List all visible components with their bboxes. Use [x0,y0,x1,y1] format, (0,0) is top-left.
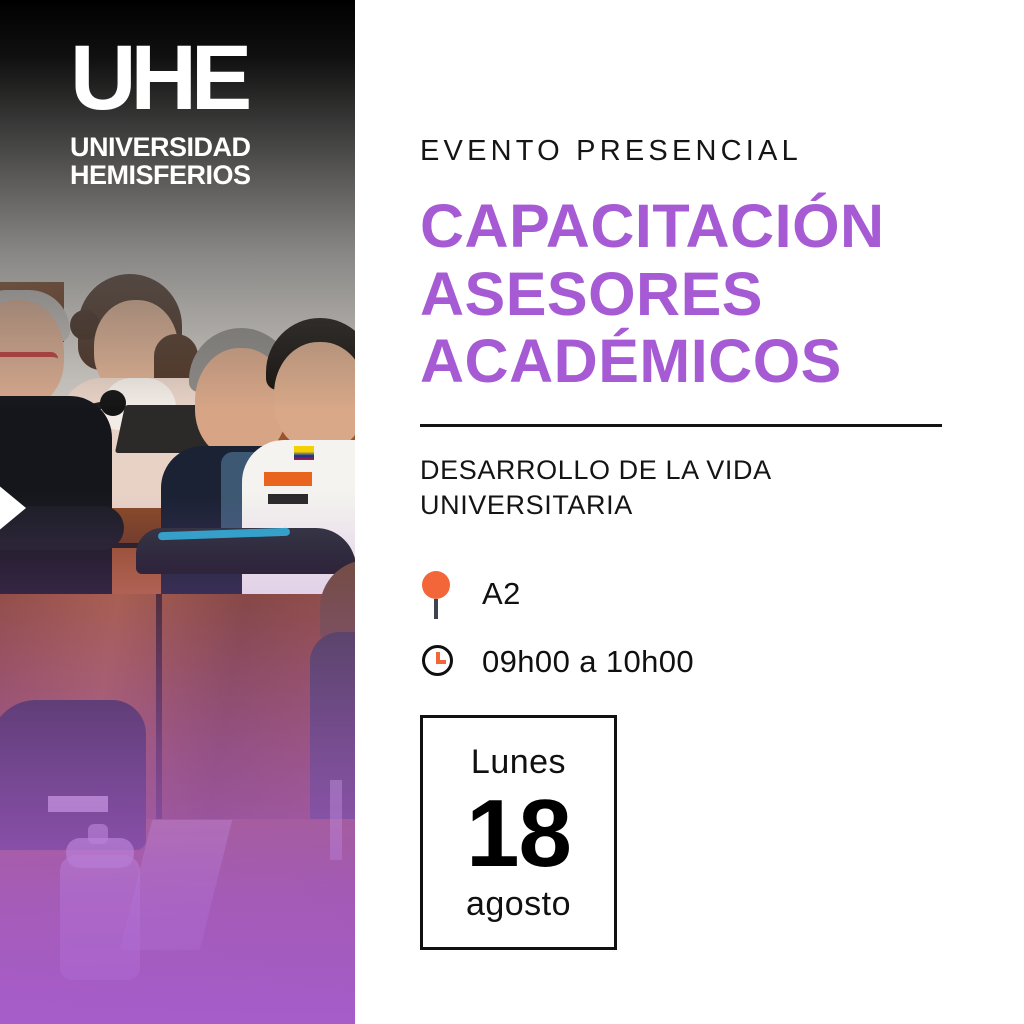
map-pin-icon [420,571,456,617]
logo-name: UNIVERSIDAD HEMISFERIOS [70,133,310,190]
event-date-day: 18 [466,785,571,883]
logo-mark: UHE [70,36,310,121]
event-type-label: EVENTO PRESENCIAL [420,137,964,166]
purple-gradient-overlay [0,492,355,1024]
event-title-line-3: ACADÉMICOS [420,328,964,396]
event-details-panel: EVENTO PRESENCIAL CAPACITACIÓN ASESORES … [355,0,1024,1024]
event-photo-panel: UHE UNIVERSIDAD HEMISFERIOS [0,0,355,1024]
event-title-line-2: ASESORES [420,261,964,329]
title-divider [420,424,942,427]
event-location-row: A2 [420,571,964,617]
event-time-value: 09h00 a 10h00 [482,644,694,680]
clock-icon [420,639,456,685]
event-location-value: A2 [482,576,521,612]
event-date-month: agosto [466,887,571,921]
event-meta-list: A2 09h00 a 10h00 [420,571,964,685]
event-subtitle-line-2: UNIVERSITARIA [420,488,964,523]
event-subtitle-line-1: DESARROLLO DE LA VIDA [420,453,964,488]
university-logo: UHE UNIVERSIDAD HEMISFERIOS [70,36,310,189]
event-time-row: 09h00 a 10h00 [420,639,964,685]
event-title: CAPACITACIÓN ASESORES ACADÉMICOS [420,193,964,396]
event-title-line-1: CAPACITACIÓN [420,193,964,261]
logo-name-line2: HEMISFERIOS [70,161,310,189]
event-subtitle: DESARROLLO DE LA VIDA UNIVERSITARIA [420,453,964,523]
logo-name-line1: UNIVERSIDAD [70,133,310,161]
event-poster: UHE UNIVERSIDAD HEMISFERIOS EVENTO PRESE… [0,0,1024,1024]
play-triangle-icon[interactable] [0,470,26,546]
event-date-weekday: Lunes [471,745,566,779]
event-date-box: Lunes 18 agosto [420,715,617,950]
